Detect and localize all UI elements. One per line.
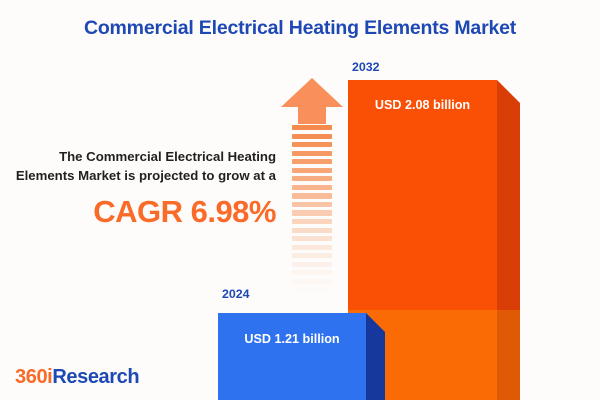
logo-text-360: 360 xyxy=(15,366,47,388)
arrow-rung xyxy=(292,270,332,275)
arrow-rung xyxy=(292,228,332,233)
arrow-rung xyxy=(292,168,332,173)
market-infographic: Commercial Electrical Heating Elements M… xyxy=(0,0,600,400)
bar-2032-side-face xyxy=(497,80,520,310)
bar-2024-year-label: 2024 xyxy=(222,287,250,301)
arrow-rung xyxy=(292,151,332,156)
arrow-rung xyxy=(292,253,332,258)
cagr-value: CAGR 6.98% xyxy=(14,194,276,230)
arrow-head-icon xyxy=(281,78,343,124)
arrow-rung xyxy=(292,219,332,224)
bar-2032-year-label: 2032 xyxy=(352,60,380,74)
upward-growth-arrow xyxy=(281,78,343,293)
bar-2032-value-label: USD 2.08 billion xyxy=(348,98,497,112)
arrow-rung xyxy=(292,279,332,284)
arrow-rung xyxy=(292,236,332,241)
arrow-rung xyxy=(292,262,332,267)
arrow-rung xyxy=(292,185,332,190)
bar-2032-side-face-lower xyxy=(497,310,520,400)
arrow-rung xyxy=(292,176,332,181)
bar-2024-value-label: USD 1.21 billion xyxy=(218,332,366,346)
bar-2032-front-face xyxy=(348,80,497,310)
bar-2024-side-face xyxy=(366,313,385,400)
arrow-rung xyxy=(292,193,332,198)
arrow-rung xyxy=(292,210,332,215)
statement-block: The Commercial Electrical Heating Elemen… xyxy=(14,148,276,230)
arrow-rung xyxy=(292,202,332,207)
bar-2024-front-face xyxy=(218,313,366,400)
arrow-rung xyxy=(292,287,332,292)
page-title: Commercial Electrical Heating Elements M… xyxy=(0,17,600,40)
arrow-rung xyxy=(292,159,332,164)
brand-logo: 360iResearch xyxy=(15,366,139,389)
statement-text: The Commercial Electrical Heating Elemen… xyxy=(14,148,276,185)
arrow-rung xyxy=(292,245,332,250)
arrow-rung xyxy=(292,125,332,130)
arrow-rung xyxy=(292,134,332,139)
bar-2024: USD 1.21 billion xyxy=(218,313,385,400)
arrow-rung xyxy=(292,142,332,147)
arrow-stem xyxy=(292,125,332,293)
logo-text-research: Research xyxy=(52,366,139,388)
